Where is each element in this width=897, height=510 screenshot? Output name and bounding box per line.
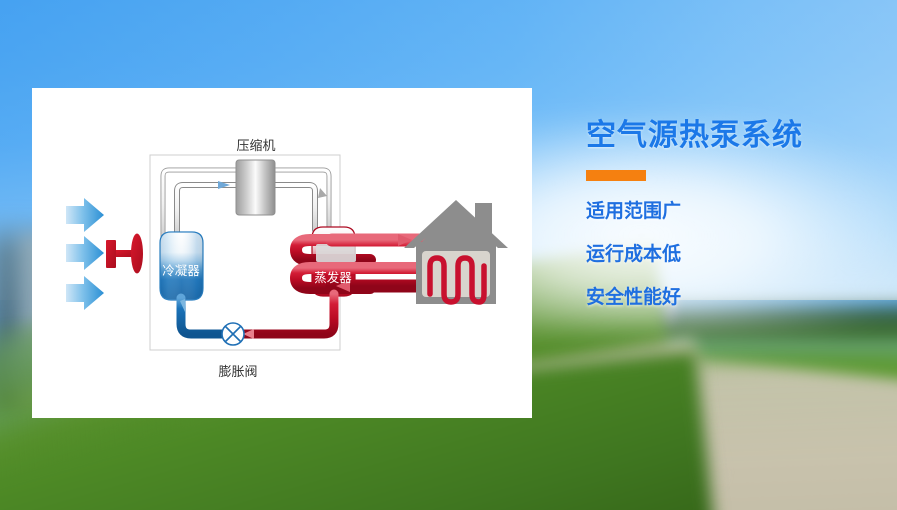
label-compressor: 压缩机 <box>236 138 275 154</box>
pipe-condenser-outlet <box>181 298 224 334</box>
pipe-evaporator-outlet <box>242 294 334 334</box>
accent-rule <box>586 170 646 181</box>
compressor-outlet-arrow <box>318 188 327 198</box>
label-evaporator: 蒸发器 <box>314 270 352 285</box>
heat-pump-diagram: 压缩机 冷凝器 蒸发器 膨胀阀 <box>32 88 532 418</box>
list-item: 安全性能好 <box>586 288 886 307</box>
expansion-valve <box>222 323 244 345</box>
heated-house <box>404 200 508 304</box>
compressor <box>236 160 275 215</box>
pipe-condenser-top-rail <box>163 170 236 238</box>
feature-list: 适用范围广 运行成本低 安全性能好 <box>586 202 886 307</box>
pipe-compressor-suction <box>177 185 236 236</box>
slide-canvas: 压缩机 冷凝器 蒸发器 膨胀阀 空气源热泵系统 适用范围广 运行成本低 安全性能… <box>0 0 897 510</box>
pipe-compressor-discharge <box>275 185 315 230</box>
pipe-evaporator-top-rail <box>275 170 329 230</box>
air-arrow-top <box>66 198 104 232</box>
list-item: 运行成本低 <box>586 245 886 264</box>
label-condenser: 冷凝器 <box>162 263 200 278</box>
air-arrow-middle <box>66 236 104 270</box>
text-panel: 空气源热泵系统 适用范围广 运行成本低 安全性能好 <box>586 118 886 331</box>
page-title: 空气源热泵系统 <box>586 118 886 154</box>
label-expansion-valve: 膨胀阀 <box>218 365 257 380</box>
list-item: 适用范围广 <box>586 202 886 221</box>
air-arrow-bottom <box>66 276 104 310</box>
outdoor-fan-icon <box>106 234 143 274</box>
